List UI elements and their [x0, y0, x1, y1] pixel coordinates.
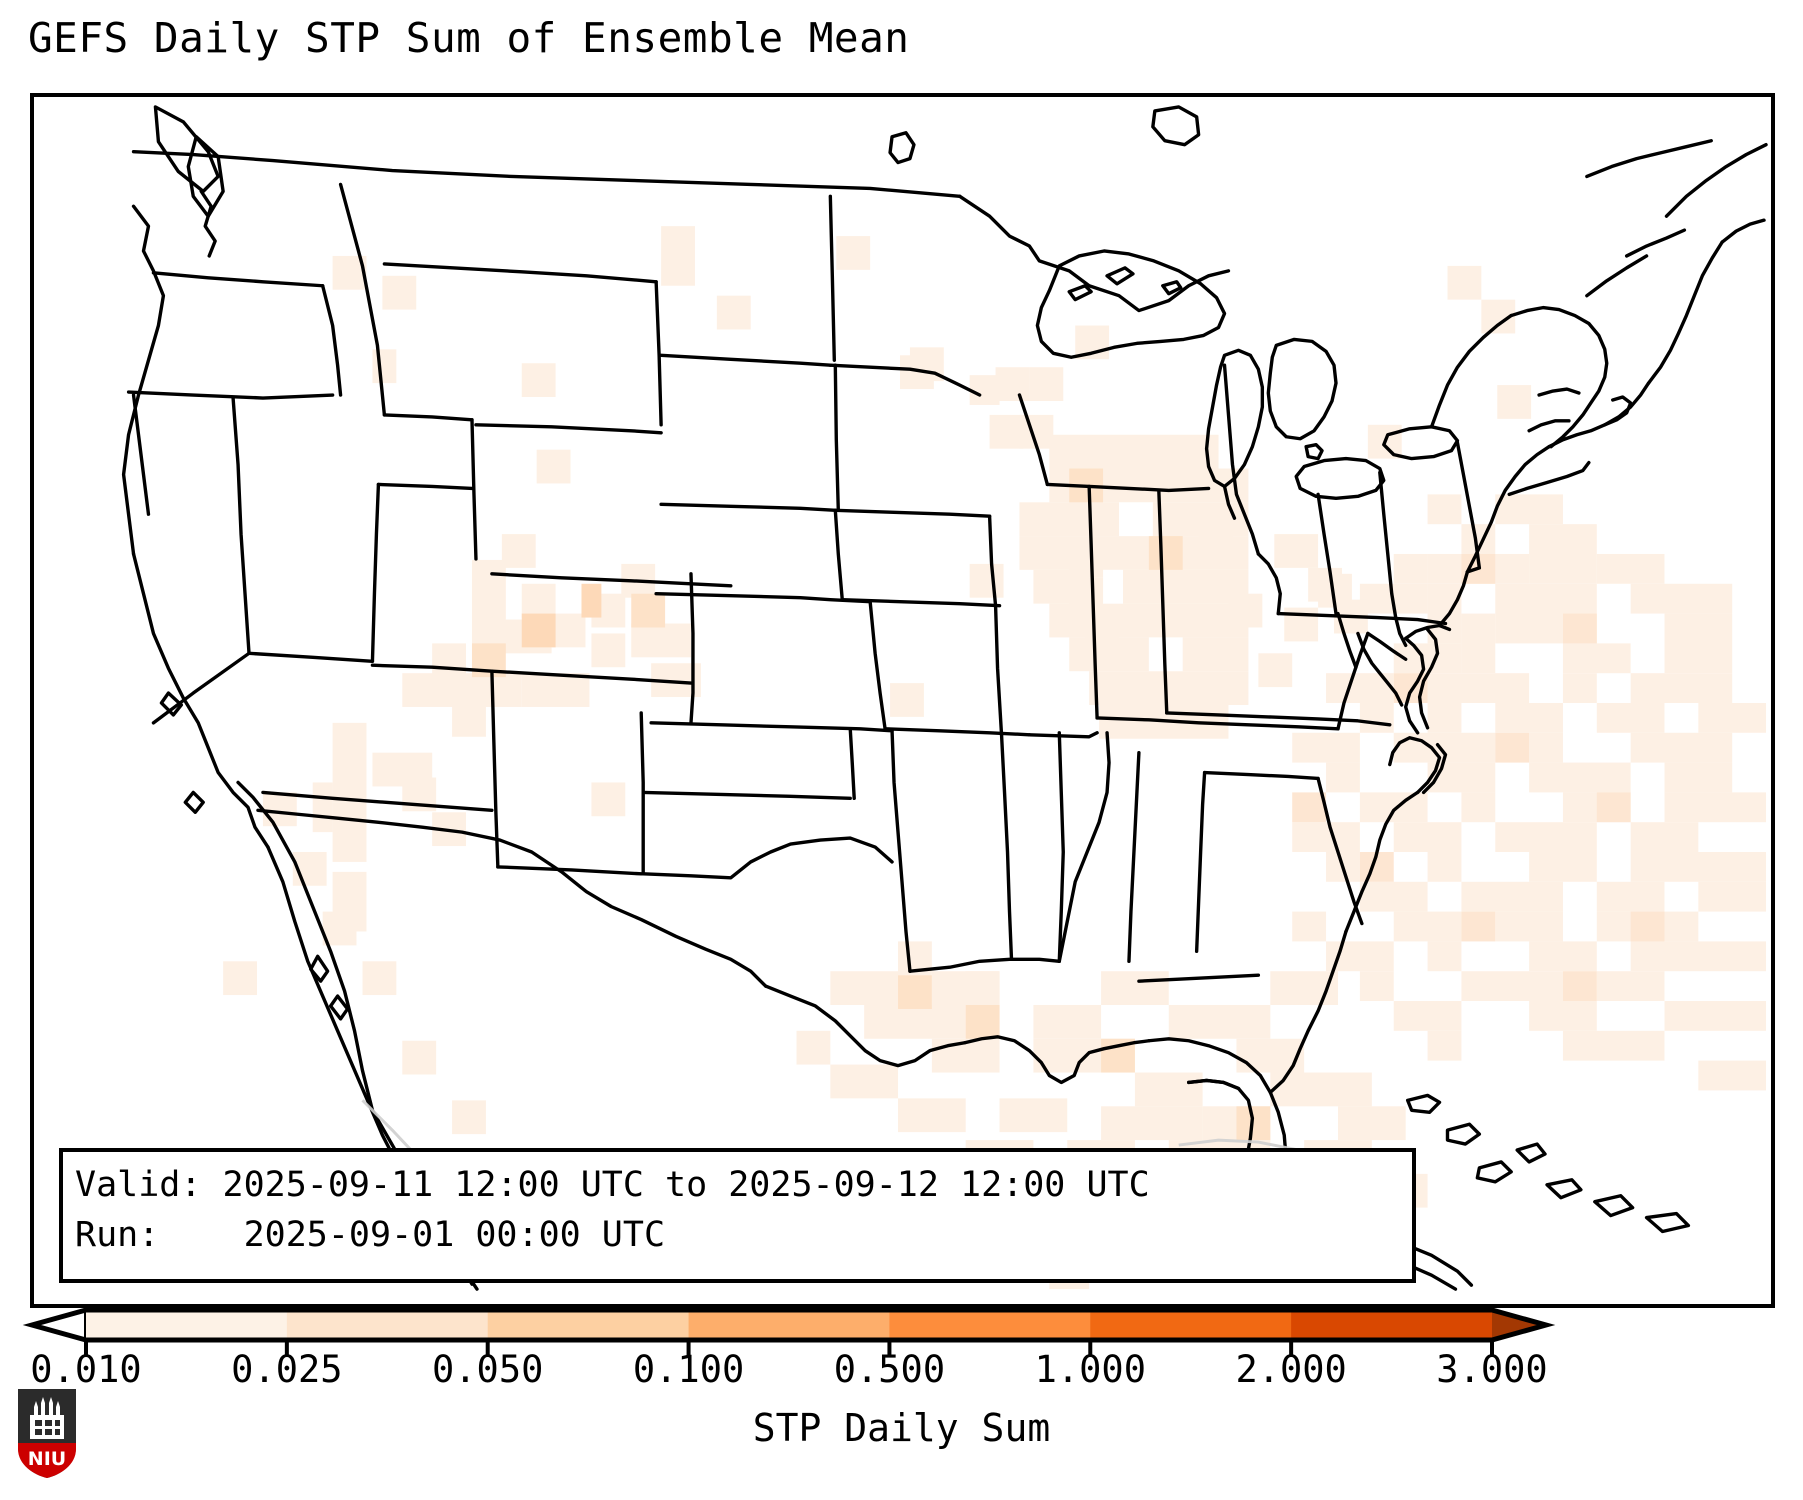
niu-wordmark: NIU: [28, 1448, 66, 1470]
map-plot-frame: [30, 93, 1775, 1308]
colorbar-band: [1090, 1310, 1291, 1340]
data-raster-layer: [223, 226, 1766, 1289]
forecast-info-box: Valid: 2025-09-11 12:00 UTC to 2025-09-1…: [59, 1148, 1416, 1283]
map-canvas: [34, 97, 1771, 1304]
colorbar-tick-label: 0.500: [834, 1348, 945, 1391]
page-title: GEFS Daily STP Sum of Ensemble Mean: [28, 14, 909, 62]
niu-logo: NIU: [14, 1385, 80, 1481]
colorbar-tick-label: 1.000: [1035, 1348, 1146, 1391]
colorbar-band: [287, 1310, 488, 1340]
run-time-line: Run: 2025-09-01 00:00 UTC: [75, 1216, 665, 1254]
colorbar-axis-label: STP Daily Sum: [0, 1406, 1803, 1450]
colorbar-band: [889, 1310, 1090, 1340]
colorbar-band: [488, 1310, 689, 1340]
colorbar-tick-label: 2.000: [1235, 1348, 1346, 1391]
colorbar: 0.0100.0250.0500.1000.5001.0002.0003.000…: [0, 1300, 1803, 1500]
colorbar-band: [689, 1310, 890, 1340]
valid-time-line: Valid: 2025-09-11 12:00 UTC to 2025-09-1…: [75, 1166, 1150, 1204]
colorbar-tick-label: 0.100: [633, 1348, 744, 1391]
colorbar-band: [1291, 1310, 1492, 1340]
colorbar-tick-label: 0.025: [231, 1348, 342, 1391]
colorbar-tick-label: 0.050: [432, 1348, 543, 1391]
colorbar-tick-label: 3.000: [1436, 1348, 1547, 1391]
forecast-map-page: GEFS Daily STP Sum of Ensemble Mean: [0, 0, 1803, 1500]
colorbar-band: [86, 1310, 287, 1340]
